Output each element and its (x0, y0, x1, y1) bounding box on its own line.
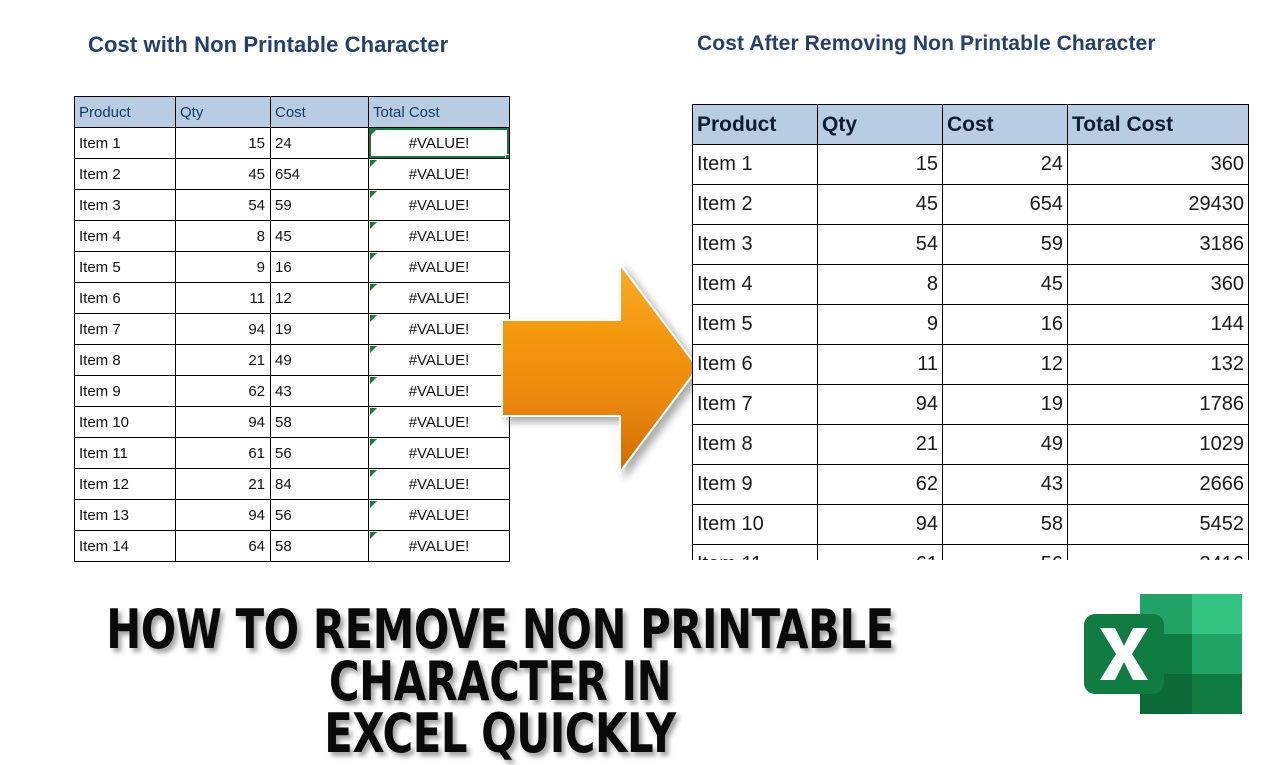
video-caption: HOW TO REMOVE NON PRINTABLE CHARACTER IN… (87, 604, 913, 760)
cell-total-cost: 132 (1068, 345, 1249, 385)
cell-cost: 24 (943, 145, 1068, 185)
cell-qty: 54 (818, 225, 943, 265)
cell-cost: 58 (271, 407, 369, 438)
cell-total-cost[interactable]: #VALUE! (369, 283, 510, 314)
cell-total-cost[interactable]: #VALUE! (369, 252, 510, 283)
microsoft-excel-logo (1082, 592, 1252, 716)
table-row: Item 139456#VALUE! (75, 500, 510, 531)
cell-total-cost[interactable]: #VALUE! (369, 190, 510, 221)
table-row: Item 96243#VALUE! (75, 376, 510, 407)
cell-total-cost: 3416 (1068, 545, 1249, 561)
cell-total-cost[interactable]: #VALUE! (369, 438, 510, 469)
cell-qty: 54 (176, 190, 271, 221)
cell-cost: 59 (271, 190, 369, 221)
cell-product: Item 1 (75, 128, 176, 159)
cell-qty: 94 (176, 407, 271, 438)
cell-product: Item 2 (693, 185, 818, 225)
cell-qty: 61 (818, 545, 943, 561)
cell-product: Item 5 (693, 305, 818, 345)
slide-canvas: Cost with Non Printable Character Produc… (0, 0, 1280, 720)
cell-qty: 8 (176, 221, 271, 252)
cell-product: Item 10 (693, 505, 818, 545)
cell-cost: 58 (943, 505, 1068, 545)
cell-qty: 94 (176, 314, 271, 345)
cell-product: Item 4 (693, 265, 818, 305)
cell-cost: 43 (943, 465, 1068, 505)
cell-product: Item 12 (75, 469, 176, 500)
caption-line-1: HOW TO REMOVE NON PRINTABLE CHARACTER IN (87, 604, 913, 708)
column-header-qty: Qty (818, 105, 943, 145)
table-row: Item 1094585452 (693, 505, 1249, 545)
before-table: ProductQtyCostTotal CostItem 11524#VALUE… (74, 96, 510, 562)
cell-qty: 9 (818, 305, 943, 345)
cell-cost: 59 (943, 225, 1068, 265)
table-row: Item 821491029 (693, 425, 1249, 465)
cell-total-cost: 360 (1068, 265, 1249, 305)
cell-cost: 16 (271, 252, 369, 283)
cell-qty: 64 (176, 531, 271, 562)
cell-qty: 94 (818, 385, 943, 425)
column-header-qty: Qty (176, 97, 271, 128)
cell-qty: 94 (818, 505, 943, 545)
cell-total-cost[interactable]: #VALUE! (369, 221, 510, 252)
cell-total-cost: 1786 (1068, 385, 1249, 425)
after-table: ProductQtyCostTotal CostItem 11524360Ite… (692, 104, 1249, 560)
column-header-total-cost: Total Cost (1068, 105, 1249, 145)
cell-qty: 21 (176, 345, 271, 376)
cell-qty: 11 (818, 345, 943, 385)
table-row: Item 11524360 (693, 145, 1249, 185)
cell-product: Item 14 (75, 531, 176, 562)
cell-total-cost[interactable]: #VALUE! (369, 407, 510, 438)
cell-cost: 45 (271, 221, 369, 252)
cell-cost: 19 (943, 385, 1068, 425)
cell-total-cost: 2666 (1068, 465, 1249, 505)
cell-total-cost[interactable]: #VALUE! (369, 159, 510, 190)
table-row: Item 245654#VALUE! (75, 159, 510, 190)
cell-product: Item 11 (693, 545, 818, 561)
cell-total-cost: 5452 (1068, 505, 1249, 545)
cell-product: Item 9 (75, 376, 176, 407)
table-header-row: ProductQtyCostTotal Cost (75, 97, 510, 128)
cell-total-cost[interactable]: #VALUE! (369, 345, 510, 376)
cell-total-cost[interactable]: #VALUE! (369, 531, 510, 562)
table-row: Item 24565429430 (693, 185, 1249, 225)
table-row: Item 146458#VALUE! (75, 531, 510, 562)
cell-product: Item 6 (75, 283, 176, 314)
cell-cost: 43 (271, 376, 369, 407)
cell-product: Item 5 (75, 252, 176, 283)
cell-total-cost: 1029 (1068, 425, 1249, 465)
cell-qty: 21 (818, 425, 943, 465)
cell-cost: 56 (271, 438, 369, 469)
table-row: Item 11524#VALUE! (75, 128, 510, 159)
cell-product: Item 9 (693, 465, 818, 505)
cell-qty: 45 (176, 159, 271, 190)
cell-product: Item 3 (693, 225, 818, 265)
table-row: Item 962432666 (693, 465, 1249, 505)
cell-cost: 58 (271, 531, 369, 562)
cell-cost: 19 (271, 314, 369, 345)
cell-product: Item 11 (75, 438, 176, 469)
caption-line-2: EXCEL QUICKLY (87, 708, 913, 760)
cell-qty: 9 (176, 252, 271, 283)
cell-total-cost[interactable]: #VALUE! (369, 500, 510, 531)
table-row: Item 794191786 (693, 385, 1249, 425)
column-header-cost: Cost (271, 97, 369, 128)
table-row: Item 61112#VALUE! (75, 283, 510, 314)
cell-product: Item 6 (693, 345, 818, 385)
cell-qty: 62 (818, 465, 943, 505)
cell-total-cost: 29430 (1068, 185, 1249, 225)
left-panel-title: Cost with Non Printable Character (88, 32, 448, 58)
table-row: Item 4845360 (693, 265, 1249, 305)
cell-product: Item 8 (693, 425, 818, 465)
right-panel-title: Cost After Removing Non Printable Charac… (697, 32, 1156, 56)
cell-total-cost: 360 (1068, 145, 1249, 185)
table-row: Item 79419#VALUE! (75, 314, 510, 345)
cell-total-cost: 144 (1068, 305, 1249, 345)
cell-cost: 16 (943, 305, 1068, 345)
table-row: Item 109458#VALUE! (75, 407, 510, 438)
cell-product: Item 1 (693, 145, 818, 185)
table-row: Item 82149#VALUE! (75, 345, 510, 376)
after-table-viewport: ProductQtyCostTotal CostItem 11524360Ite… (692, 104, 1250, 560)
cell-total-cost[interactable]: #VALUE! (369, 376, 510, 407)
cell-total-cost[interactable]: #VALUE! (369, 128, 510, 159)
table-row: Item 35459#VALUE! (75, 190, 510, 221)
column-header-product: Product (75, 97, 176, 128)
cell-qty: 94 (176, 500, 271, 531)
cell-cost: 24 (271, 128, 369, 159)
table-row: Item 5916144 (693, 305, 1249, 345)
cell-cost: 56 (943, 545, 1068, 561)
cell-qty: 15 (176, 128, 271, 159)
cell-cost: 12 (271, 283, 369, 314)
cell-qty: 15 (818, 145, 943, 185)
cell-product: Item 10 (75, 407, 176, 438)
cell-qty: 45 (818, 185, 943, 225)
cell-cost: 49 (943, 425, 1068, 465)
table-row: Item 61112132 (693, 345, 1249, 385)
cell-qty: 8 (818, 265, 943, 305)
cell-qty: 62 (176, 376, 271, 407)
cell-product: Item 7 (75, 314, 176, 345)
cell-qty: 61 (176, 438, 271, 469)
cell-qty: 21 (176, 469, 271, 500)
cell-product: Item 2 (75, 159, 176, 190)
right-arrow-icon (500, 258, 705, 483)
cell-total-cost[interactable]: #VALUE! (369, 314, 510, 345)
cell-cost: 45 (943, 265, 1068, 305)
table-row: Item 354593186 (693, 225, 1249, 265)
table-row: Item 1161563416 (693, 545, 1249, 561)
table-row: Item 116156#VALUE! (75, 438, 510, 469)
cell-cost: 12 (943, 345, 1068, 385)
cell-product: Item 7 (693, 385, 818, 425)
cell-cost: 56 (271, 500, 369, 531)
column-header-cost: Cost (943, 105, 1068, 145)
cell-product: Item 8 (75, 345, 176, 376)
column-header-product: Product (693, 105, 818, 145)
table-row: Item 122184#VALUE! (75, 469, 510, 500)
cell-product: Item 3 (75, 190, 176, 221)
cell-cost: 654 (271, 159, 369, 190)
column-header-total-cost: Total Cost (369, 97, 510, 128)
cell-total-cost[interactable]: #VALUE! (369, 469, 510, 500)
cell-cost: 654 (943, 185, 1068, 225)
cell-total-cost: 3186 (1068, 225, 1249, 265)
table-header-row: ProductQtyCostTotal Cost (693, 105, 1249, 145)
table-row: Item 4845#VALUE! (75, 221, 510, 252)
cell-cost: 49 (271, 345, 369, 376)
cell-cost: 84 (271, 469, 369, 500)
cell-qty: 11 (176, 283, 271, 314)
cell-product: Item 13 (75, 500, 176, 531)
cell-product: Item 4 (75, 221, 176, 252)
table-row: Item 5916#VALUE! (75, 252, 510, 283)
